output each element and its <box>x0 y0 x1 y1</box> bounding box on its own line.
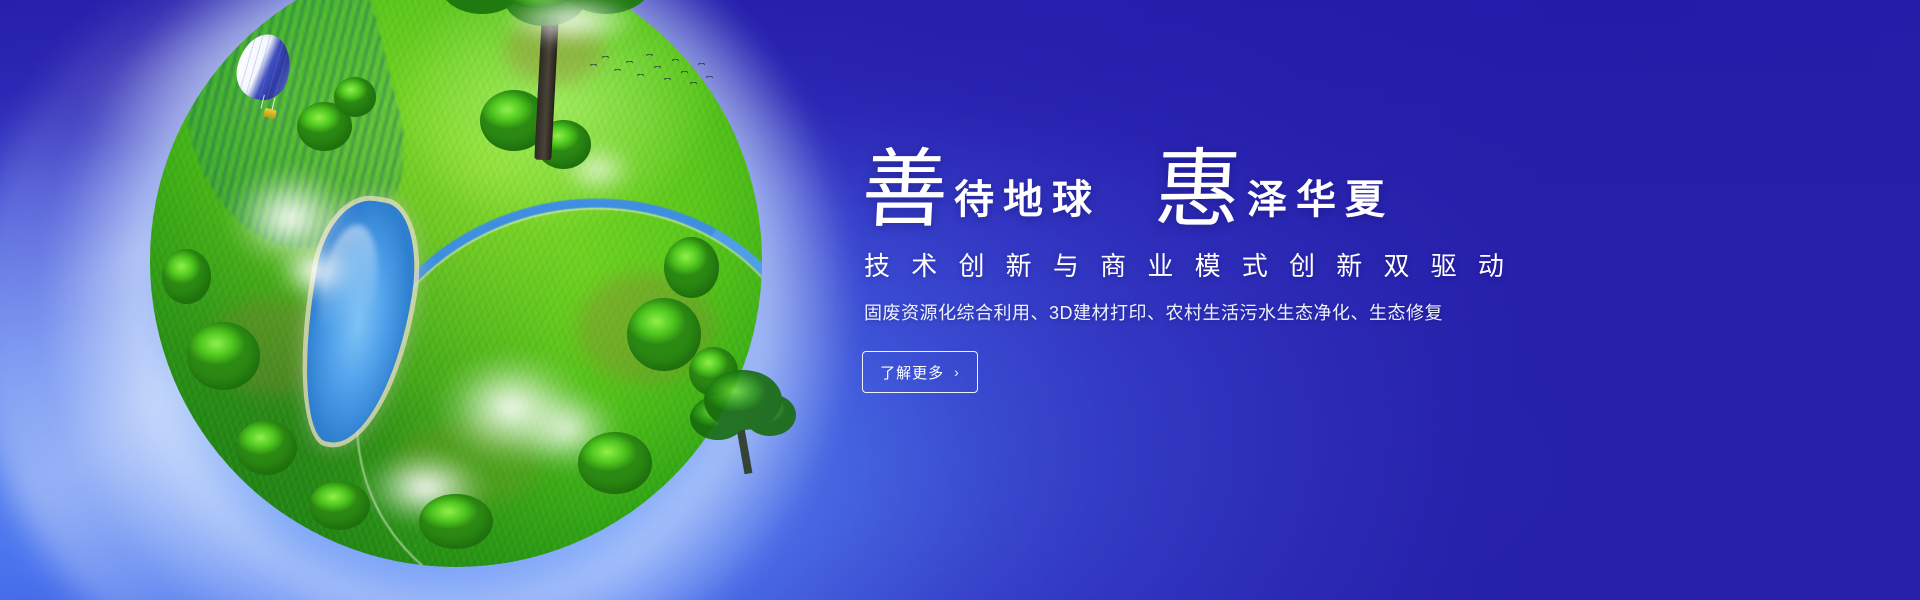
tree-canopy-rim-12 <box>236 420 297 475</box>
bird-icon <box>672 59 679 63</box>
tree-canopy-rim-6 <box>162 249 211 304</box>
bird-icon <box>590 64 597 68</box>
tree-canopy-rim-5 <box>187 322 260 389</box>
tree-canopy-rim-10 <box>419 494 492 549</box>
banner-content: 善 待地球 惠 泽华夏 技 术 创 新 与 商 业 模 式 创 新 双 驱 动 … <box>862 128 1482 393</box>
small-tree-leaf-1 <box>704 370 782 430</box>
tree-canopy-rim-8 <box>664 237 719 298</box>
headline-big-2: 惠 <box>1153 149 1243 232</box>
tree-canopy-rim-9 <box>578 432 651 493</box>
bird-icon <box>602 56 609 60</box>
hero-banner: 善 待地球 惠 泽华夏 技 术 创 新 与 商 业 模 式 创 新 双 驱 动 … <box>0 0 1920 600</box>
bird-icon <box>690 82 697 86</box>
bird-icon <box>681 71 688 75</box>
learn-more-label: 了解更多 <box>880 362 944 383</box>
headline: 善 待地球 惠 泽华夏 <box>862 128 1482 232</box>
planet-cloud-2 <box>272 237 358 304</box>
bird-icon <box>664 78 671 82</box>
learn-more-button[interactable]: 了解更多 › <box>862 351 978 393</box>
bird-icon <box>637 74 644 78</box>
bird-icon <box>614 69 621 73</box>
bird-icon <box>706 76 713 80</box>
hot-air-balloon <box>238 34 294 126</box>
bird-icon <box>626 61 633 65</box>
chevron-right-icon: › <box>954 365 960 379</box>
tree-mist <box>476 0 666 56</box>
bird-icon <box>654 66 661 70</box>
headline-big-1: 善 <box>860 149 950 232</box>
description: 固废资源化综合利用、3D建材打印、农村生活污水生态净化、生态修复 <box>864 299 1482 325</box>
bird-icon <box>698 63 705 67</box>
headline-small-2: 泽华夏 <box>1241 180 1394 232</box>
small-tree-silhouette <box>690 360 800 480</box>
bird-flock <box>588 52 718 96</box>
subtitle: 技 术 创 新 与 商 业 模 式 创 新 双 驱 动 <box>864 246 1482 283</box>
bird-icon <box>646 54 653 58</box>
headline-small-1: 待地球 <box>948 180 1101 232</box>
